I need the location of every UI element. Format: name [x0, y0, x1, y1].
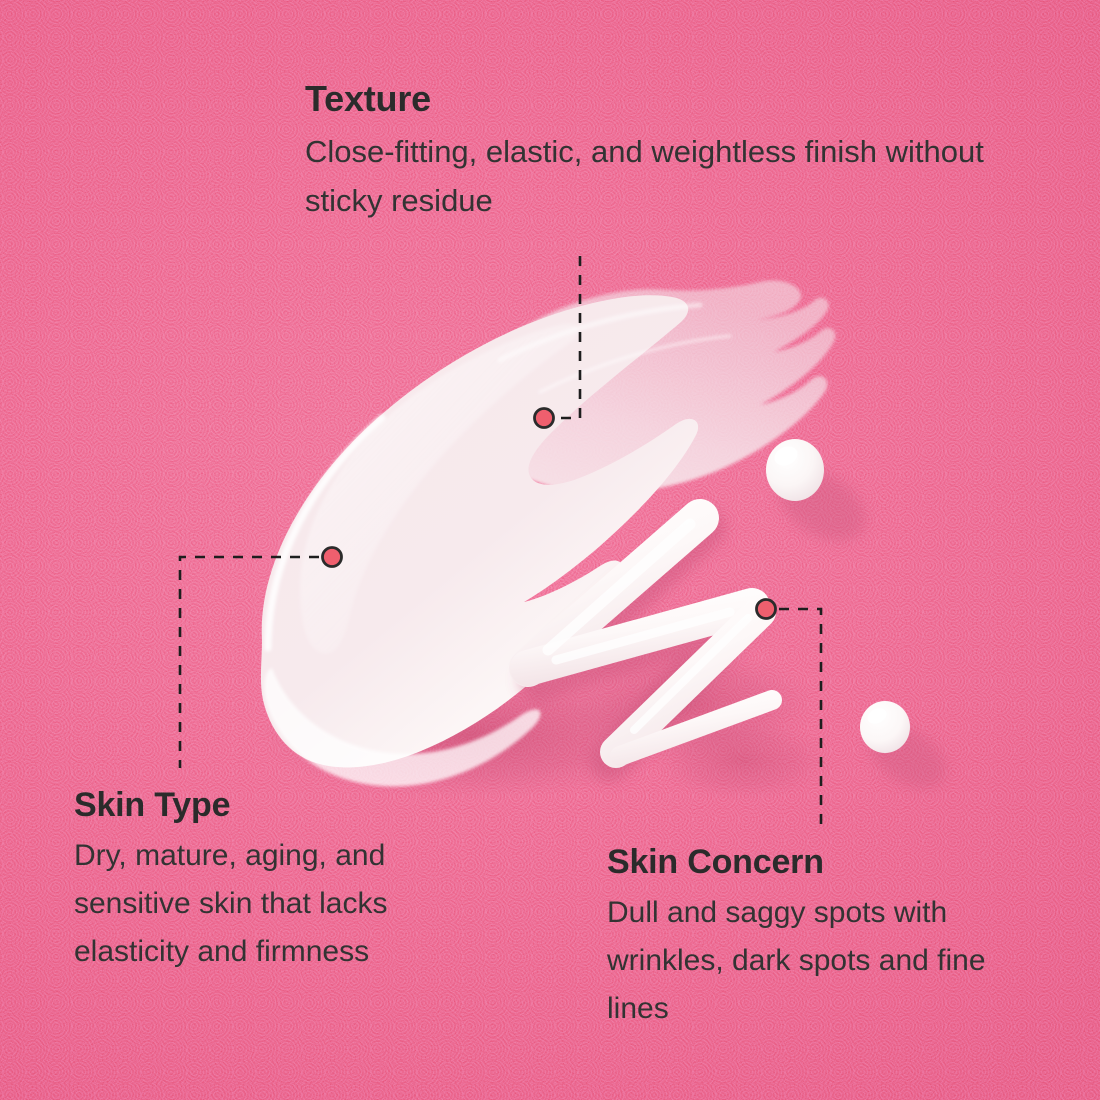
marker-dot-skin-type	[323, 548, 342, 567]
marker-dot-texture	[535, 409, 554, 428]
callout-skin-type: Skin Type Dry, mature, aging, and sensit…	[74, 783, 464, 976]
product-infographic: Texture Close-fitting, elastic, and weig…	[0, 0, 1100, 1100]
leader-line-texture	[535, 256, 581, 428]
callout-skin-concern-body: Dull and saggy spots with wrinkles, dark…	[607, 889, 1047, 1033]
callout-skin-concern: Skin Concern Dull and saggy spots with w…	[607, 840, 1047, 1033]
callout-texture-title: Texture	[305, 76, 985, 122]
callout-skin-concern-title: Skin Concern	[607, 840, 1047, 884]
callout-skin-type-title: Skin Type	[74, 783, 464, 827]
callout-skin-type-body: Dry, mature, aging, and sensitive skin t…	[74, 832, 464, 976]
marker-dot-skin-concern	[757, 600, 776, 619]
callout-texture: Texture Close-fitting, elastic, and weig…	[305, 76, 985, 225]
leader-line-skin-concern	[757, 600, 822, 831]
leader-line-skin-type	[180, 548, 342, 769]
callout-texture-body: Close-fitting, elastic, and weightless f…	[305, 127, 985, 225]
